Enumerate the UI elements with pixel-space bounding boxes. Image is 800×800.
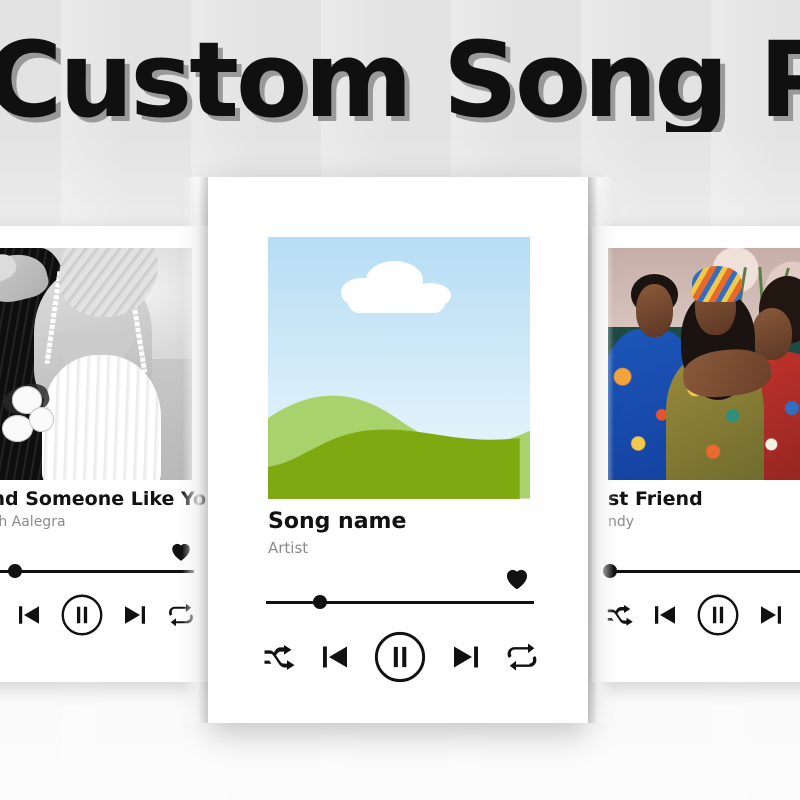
placeholder-hill-dark [268,413,520,499]
shuffle-icon[interactable] [260,639,296,675]
poster-card-center[interactable]: Song name Artist [208,177,588,723]
pause-icon[interactable] [60,593,104,637]
album-artwork-left [0,248,192,480]
wedding-photo-illustration [0,248,192,480]
pause-icon[interactable] [696,593,740,637]
album-artwork-center [268,237,530,499]
song-artist-center: Artist [268,539,538,557]
progress-track[interactable] [606,570,800,573]
playback-controls-left[interactable] [0,592,196,638]
repeat-icon[interactable] [166,600,196,630]
poster-card-left[interactable]: Find Someone Like Yo Snoh Aalegra [0,226,208,682]
album-artwork-right [608,248,800,480]
heart-icon[interactable] [502,563,532,599]
page-title: Custom Song Poster [0,28,800,132]
friends-photo-illustration [608,248,800,480]
song-title-center: Song name [268,509,538,534]
next-track-icon[interactable] [120,600,150,630]
repeat-icon[interactable] [504,639,540,675]
song-meta-center: Song name Artist [268,509,538,557]
song-meta-left: Find Someone Like Yo Snoh Aalegra [0,488,204,530]
poster-card-right[interactable]: st Friend ndy [592,226,800,682]
previous-track-icon[interactable] [317,639,353,675]
song-title-right: st Friend [608,488,800,510]
next-track-icon[interactable] [448,639,484,675]
song-meta-right: st Friend ndy [608,488,800,530]
pause-icon[interactable] [373,630,427,684]
previous-track-icon[interactable] [650,600,680,630]
song-artist-right: ndy [608,514,800,530]
progress-knob[interactable] [313,595,327,609]
progress-bar-center[interactable] [266,595,534,609]
progress-track[interactable] [0,570,194,573]
previous-track-icon[interactable] [14,600,44,630]
song-title-left: Find Someone Like Yo [0,488,204,510]
progress-track[interactable] [266,601,534,604]
progress-knob[interactable] [603,564,617,578]
cloud-icon [341,261,451,316]
playback-controls-right[interactable] [604,592,800,638]
progress-knob[interactable] [8,564,22,578]
song-artist-left: Snoh Aalegra [0,514,204,530]
next-track-icon[interactable] [756,600,786,630]
shuffle-icon[interactable] [604,600,634,630]
progress-bar-left[interactable] [0,564,194,578]
progress-bar-right[interactable] [606,564,800,578]
playback-controls-center[interactable] [260,629,540,685]
